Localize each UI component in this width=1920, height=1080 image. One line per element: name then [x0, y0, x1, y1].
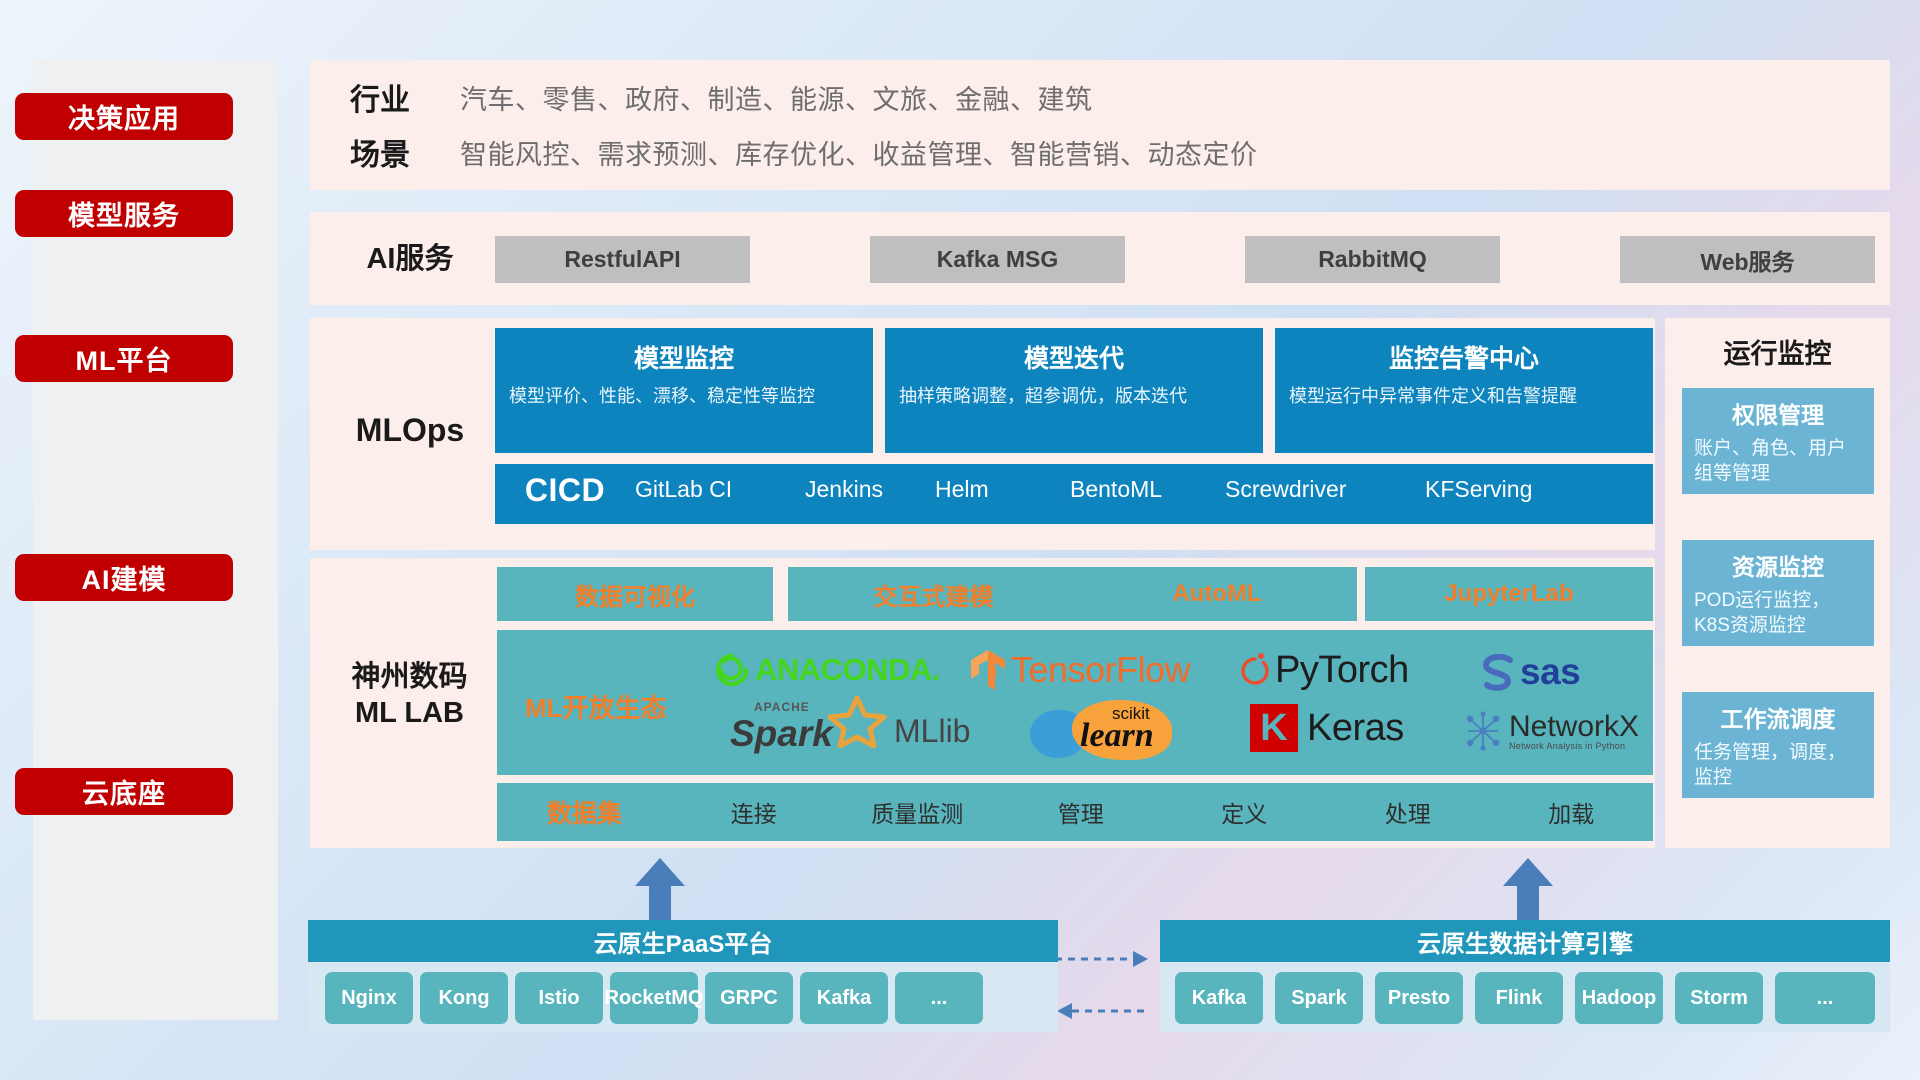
sas-mark-icon [1480, 652, 1518, 692]
pill-label: Nginx [341, 987, 397, 1009]
card-desc: 账户、角色、用户组等管理 [1694, 436, 1862, 486]
spark-mllib-logo: APACHE Spark MLlib [730, 700, 970, 762]
card-desc: 模型运行中异常事件定义和告警提醒 [1289, 384, 1639, 408]
tool-chip-label: 数据可视化 [575, 577, 695, 612]
dataset-item-definition[interactable]: 定义 [1163, 795, 1327, 829]
ml-lab-label: 神州数码 ML LAB [322, 655, 497, 735]
cicd-label: CICD [495, 464, 635, 509]
tool-chip-label: 交互式建模 [874, 577, 994, 612]
mllib-wordmark: MLlib [894, 713, 970, 750]
monitor-card-resource-monitoring[interactable]: 资源监控 POD运行监控，K8S资源监控 [1682, 540, 1874, 646]
pill-label: ... [931, 987, 948, 1009]
anaconda-dot: . [932, 652, 941, 688]
card-title: 工作流调度 [1694, 700, 1862, 734]
arrow-left-dashed-icon [1055, 1000, 1150, 1022]
keras-mark-icon: K [1250, 704, 1298, 752]
scenario-row: 场景 智能风控、需求预测、库存优化、收益管理、智能营销、动态定价 [350, 130, 1850, 174]
tool-chip-jupyterlab[interactable]: JupyterLab [1365, 567, 1653, 621]
tool-chip-automl[interactable]: AutoML [1077, 567, 1357, 621]
tensorflow-wordmark: TensorFlow [1011, 649, 1190, 691]
anaconda-wordmark: ANACONDA [755, 652, 932, 688]
service-chip-restfulapi[interactable]: RestfulAPI [495, 236, 750, 283]
runtime-monitor-title: 运行监控 [1665, 332, 1890, 371]
spark-star-icon [826, 696, 888, 748]
pill-label: ... [1817, 987, 1834, 1009]
anaconda-logo: ANACONDA . [715, 650, 940, 690]
card-desc: 模型评价、性能、漂移、稳定性等监控 [509, 384, 859, 408]
pill-label: RocketMQ [605, 987, 704, 1009]
pytorch-wordmark: PyTorch [1275, 649, 1409, 692]
pill-label: GRPC [720, 987, 778, 1009]
dataset-label: 数据集 [497, 794, 672, 830]
dataset-item-connect[interactable]: 连接 [672, 795, 836, 829]
spark-mark-icon: APACHE Spark [730, 700, 890, 762]
pytorch-logo: PyTorch [1240, 648, 1409, 692]
rail-chip-label: AI建模 [82, 558, 167, 597]
card-title: 模型迭代 [899, 339, 1249, 375]
rail-chip-model-service[interactable]: 模型服务 [15, 190, 233, 237]
paas-pill-grpc[interactable]: GRPC [705, 972, 793, 1024]
engine-pill-spark[interactable]: Spark [1275, 972, 1363, 1024]
engine-pill-more[interactable]: ... [1775, 972, 1875, 1024]
card-title: 权限管理 [1694, 396, 1862, 430]
ml-ecosystem-label: ML开放生态 [525, 688, 667, 725]
cicd-item-bentoml[interactable]: BentoML [1070, 464, 1225, 502]
sas-wordmark: sas [1520, 651, 1580, 693]
cicd-item-jenkins[interactable]: Jenkins [805, 464, 935, 502]
networkx-wordmark: NetworkX [1509, 712, 1639, 742]
networkx-logo: NetworkX Network Analysis in Python [1462, 705, 1639, 757]
paas-pill-more[interactable]: ... [895, 972, 983, 1024]
ml-lab-label-line2: ML LAB [355, 695, 464, 731]
learn-wordmark: learn [1080, 717, 1154, 755]
cicd-item-gitlab-ci[interactable]: GitLab CI [635, 464, 805, 502]
apache-wordmark: APACHE [754, 700, 810, 714]
service-chip-web-service[interactable]: Web服务 [1620, 236, 1875, 283]
paas-pill-rocketmq[interactable]: RocketMQ [610, 972, 698, 1024]
paas-panel-header: 云原生PaaS平台 [308, 920, 1058, 962]
keras-wordmark: Keras [1307, 707, 1404, 750]
pill-label: Kafka [1192, 987, 1246, 1009]
rail-chip-label: 决策应用 [68, 97, 180, 136]
scikit-learn-mark-icon: scikit learn [1030, 700, 1205, 760]
industry-key: 行业 [350, 75, 460, 119]
dataset-item-quality-monitoring[interactable]: 质量监测 [836, 795, 1000, 829]
monitor-card-workflow-scheduling[interactable]: 工作流调度 任务管理，调度，监控 [1682, 692, 1874, 798]
tensorflow-mark-icon [970, 649, 1006, 691]
pill-label: Istio [538, 987, 579, 1009]
cicd-item-screwdriver[interactable]: Screwdriver [1225, 464, 1425, 502]
mlops-card-model-iteration[interactable]: 模型迭代 抽样策略调整，超参调优，版本迭代 [885, 328, 1263, 453]
service-chip-label: Web服务 [1700, 243, 1794, 277]
engine-pill-kafka[interactable]: Kafka [1175, 972, 1263, 1024]
dataset-item-loading[interactable]: 加载 [1490, 795, 1654, 829]
service-layer-label: AI服务 [330, 237, 490, 281]
pill-label: Hadoop [1582, 987, 1656, 1009]
industry-row: 行业 汽车、零售、政府、制造、能源、文旅、金融、建筑 [350, 75, 1850, 119]
card-title: 监控告警中心 [1289, 339, 1639, 375]
rail-chip-label: 云底座 [82, 772, 166, 811]
arrow-right-dashed-icon [1055, 948, 1150, 970]
engine-pill-presto[interactable]: Presto [1375, 972, 1463, 1024]
monitor-card-permission-management[interactable]: 权限管理 账户、角色、用户组等管理 [1682, 388, 1874, 494]
anaconda-mark-icon [715, 653, 749, 687]
mlops-card-model-monitoring[interactable]: 模型监控 模型评价、性能、漂移、稳定性等监控 [495, 328, 873, 453]
rail-chip-ml-platform[interactable]: ML平台 [15, 335, 233, 382]
scikit-learn-logo: scikit learn [1030, 700, 1205, 760]
keras-logo: K Keras [1250, 702, 1404, 754]
rail-chip-label: 模型服务 [68, 194, 180, 233]
rail-chip-ai-modeling[interactable]: AI建模 [15, 554, 233, 601]
cicd-item-kfserving[interactable]: KFServing [1425, 464, 1610, 502]
dataset-item-management[interactable]: 管理 [999, 795, 1163, 829]
pill-label: Kong [438, 987, 489, 1009]
service-chip-label: RestfulAPI [564, 246, 680, 273]
paas-pill-kafka[interactable]: Kafka [800, 972, 888, 1024]
dataset-row: 数据集 连接 质量监测 管理 定义 处理 加载 [497, 783, 1653, 841]
keras-k-glyph: K [1260, 709, 1287, 747]
spark-wordmark: Spark [730, 713, 833, 755]
card-desc: 任务管理，调度，监控 [1694, 740, 1862, 790]
rail-chip-label: ML平台 [76, 339, 173, 378]
industry-value: 汽车、零售、政府、制造、能源、文旅、金融、建筑 [460, 78, 1093, 117]
dataset-item-processing[interactable]: 处理 [1326, 795, 1490, 829]
networkx-tagline: Network Analysis in Python [1509, 742, 1639, 751]
cicd-item-helm[interactable]: Helm [935, 464, 1070, 502]
card-desc: 抽样策略调整，超参调优，版本迭代 [899, 384, 1249, 408]
pill-label: Spark [1291, 987, 1347, 1009]
engine-pill-flink[interactable]: Flink [1475, 972, 1563, 1024]
service-chip-label: RabbitMQ [1318, 246, 1427, 273]
service-chip-label: Kafka MSG [937, 246, 1058, 273]
card-title: 模型监控 [509, 339, 859, 375]
cicd-bar: CICD GitLab CI Jenkins Helm BentoML Scre… [495, 464, 1653, 524]
card-title: 资源监控 [1694, 548, 1862, 582]
pill-label: Kafka [817, 987, 871, 1009]
arrow-up-engine-icon [1498, 858, 1558, 920]
rail-chip-cloud-base[interactable]: 云底座 [15, 768, 233, 815]
ml-lab-label-line1: 神州数码 [351, 659, 467, 695]
mlops-card-alert-center[interactable]: 监控告警中心 模型运行中异常事件定义和告警提醒 [1275, 328, 1653, 453]
rail-chip-decision-app[interactable]: 决策应用 [15, 93, 233, 140]
paas-pill-nginx[interactable]: Nginx [325, 972, 413, 1024]
tool-chip-label: AutoML [1172, 580, 1261, 608]
pill-label: Flink [1496, 987, 1543, 1009]
tool-chip-data-visualization[interactable]: 数据可视化 [497, 567, 773, 621]
tool-chip-label: JupyterLab [1444, 580, 1573, 608]
scenario-value: 智能风控、需求预测、库存优化、收益管理、智能营销、动态定价 [460, 133, 1258, 172]
tensorflow-logo: TensorFlow [970, 648, 1190, 692]
sas-logo: sas [1480, 650, 1580, 694]
networkx-mark-icon [1462, 710, 1504, 752]
paas-pill-kong[interactable]: Kong [420, 972, 508, 1024]
service-chip-kafka-msg[interactable]: Kafka MSG [870, 236, 1125, 283]
architecture-diagram: 决策应用 模型服务 ML平台 AI建模 云底座 行业 汽车、零售、政府、制造、能… [0, 0, 1920, 1080]
scenario-key: 场景 [350, 130, 460, 174]
mlops-label: MLOps [330, 405, 490, 455]
engine-pill-hadoop[interactable]: Hadoop [1575, 972, 1663, 1024]
tool-chip-interactive-modeling[interactable]: 交互式建模 [788, 567, 1079, 621]
service-chip-rabbitmq[interactable]: RabbitMQ [1245, 236, 1500, 283]
pill-label: Storm [1690, 987, 1748, 1009]
data-engine-panel-header: 云原生数据计算引擎 [1160, 920, 1890, 962]
pytorch-mark-icon [1240, 650, 1270, 690]
paas-pill-istio[interactable]: Istio [515, 972, 603, 1024]
card-desc: POD运行监控，K8S资源监控 [1694, 588, 1862, 638]
arrow-up-paas-icon [630, 858, 690, 920]
engine-pill-storm[interactable]: Storm [1675, 972, 1763, 1024]
pill-label: Presto [1388, 987, 1450, 1009]
